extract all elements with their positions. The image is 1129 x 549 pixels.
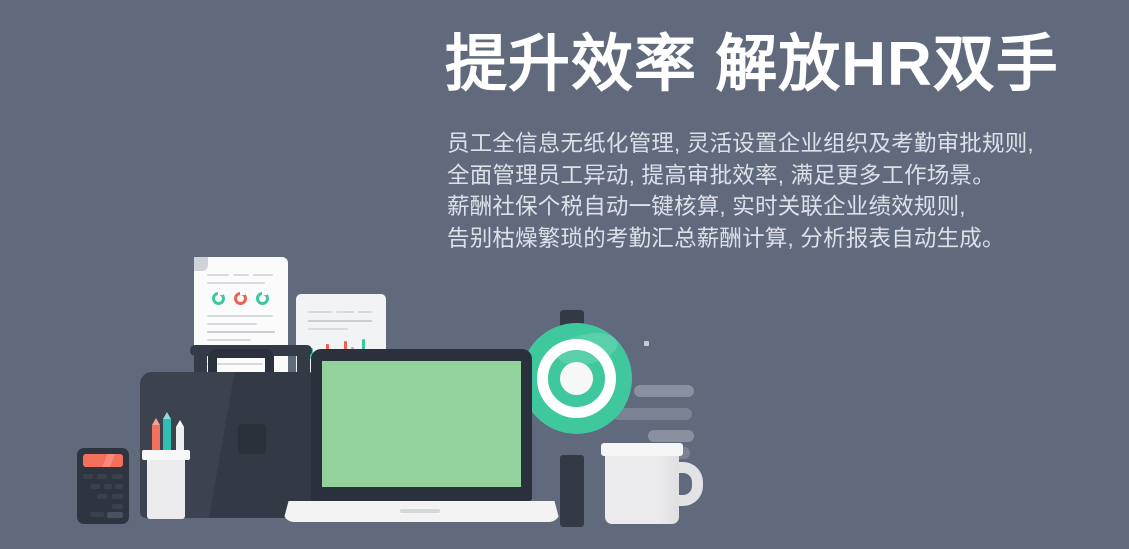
laptop-screen [322,361,521,487]
donut-chart [212,292,225,305]
promo-banner: 提升效率 解放HR双手 员工全信息无纸化管理, 灵活设置企业组织及考勤审批规则,… [0,0,1129,549]
mug-rim [601,443,683,456]
screen-glare [322,361,521,487]
body-line: 告别枯燥繁琐的考勤汇总薪酬计算, 分析报表自动生成。 [447,223,1047,255]
briefcase-clasp [238,424,266,454]
donut-chart [256,292,269,305]
target-center [560,362,593,395]
sparkle-icon [644,341,649,346]
pencil-cup [147,457,185,519]
body-copy: 员工全信息无纸化管理, 灵活设置企业组织及考勤审批规则, 全面管理员工异动, 提… [447,128,1047,254]
motion-streak [634,385,694,397]
body-line: 全面管理员工异动, 提高审批效率, 满足更多工作场景。 [447,160,1047,192]
donut-chart [234,292,247,305]
motion-streak [612,408,692,420]
motion-streak [648,430,694,442]
laptop-trackpad-notch [400,509,440,513]
headline: 提升效率 解放HR双手 [445,28,1065,102]
body-line: 薪酬社保个税自动一键核算, 实时关联企业绩效规则, [447,191,1047,223]
target-post [560,455,584,527]
calculator [77,448,129,524]
mug-shading [605,448,679,524]
body-line: 员工全信息无纸化管理, 灵活设置企业组织及考勤审批规则, [447,128,1047,160]
pencil-cup-rim [142,450,190,460]
calculator-display [83,454,123,467]
page-fold [194,257,208,271]
